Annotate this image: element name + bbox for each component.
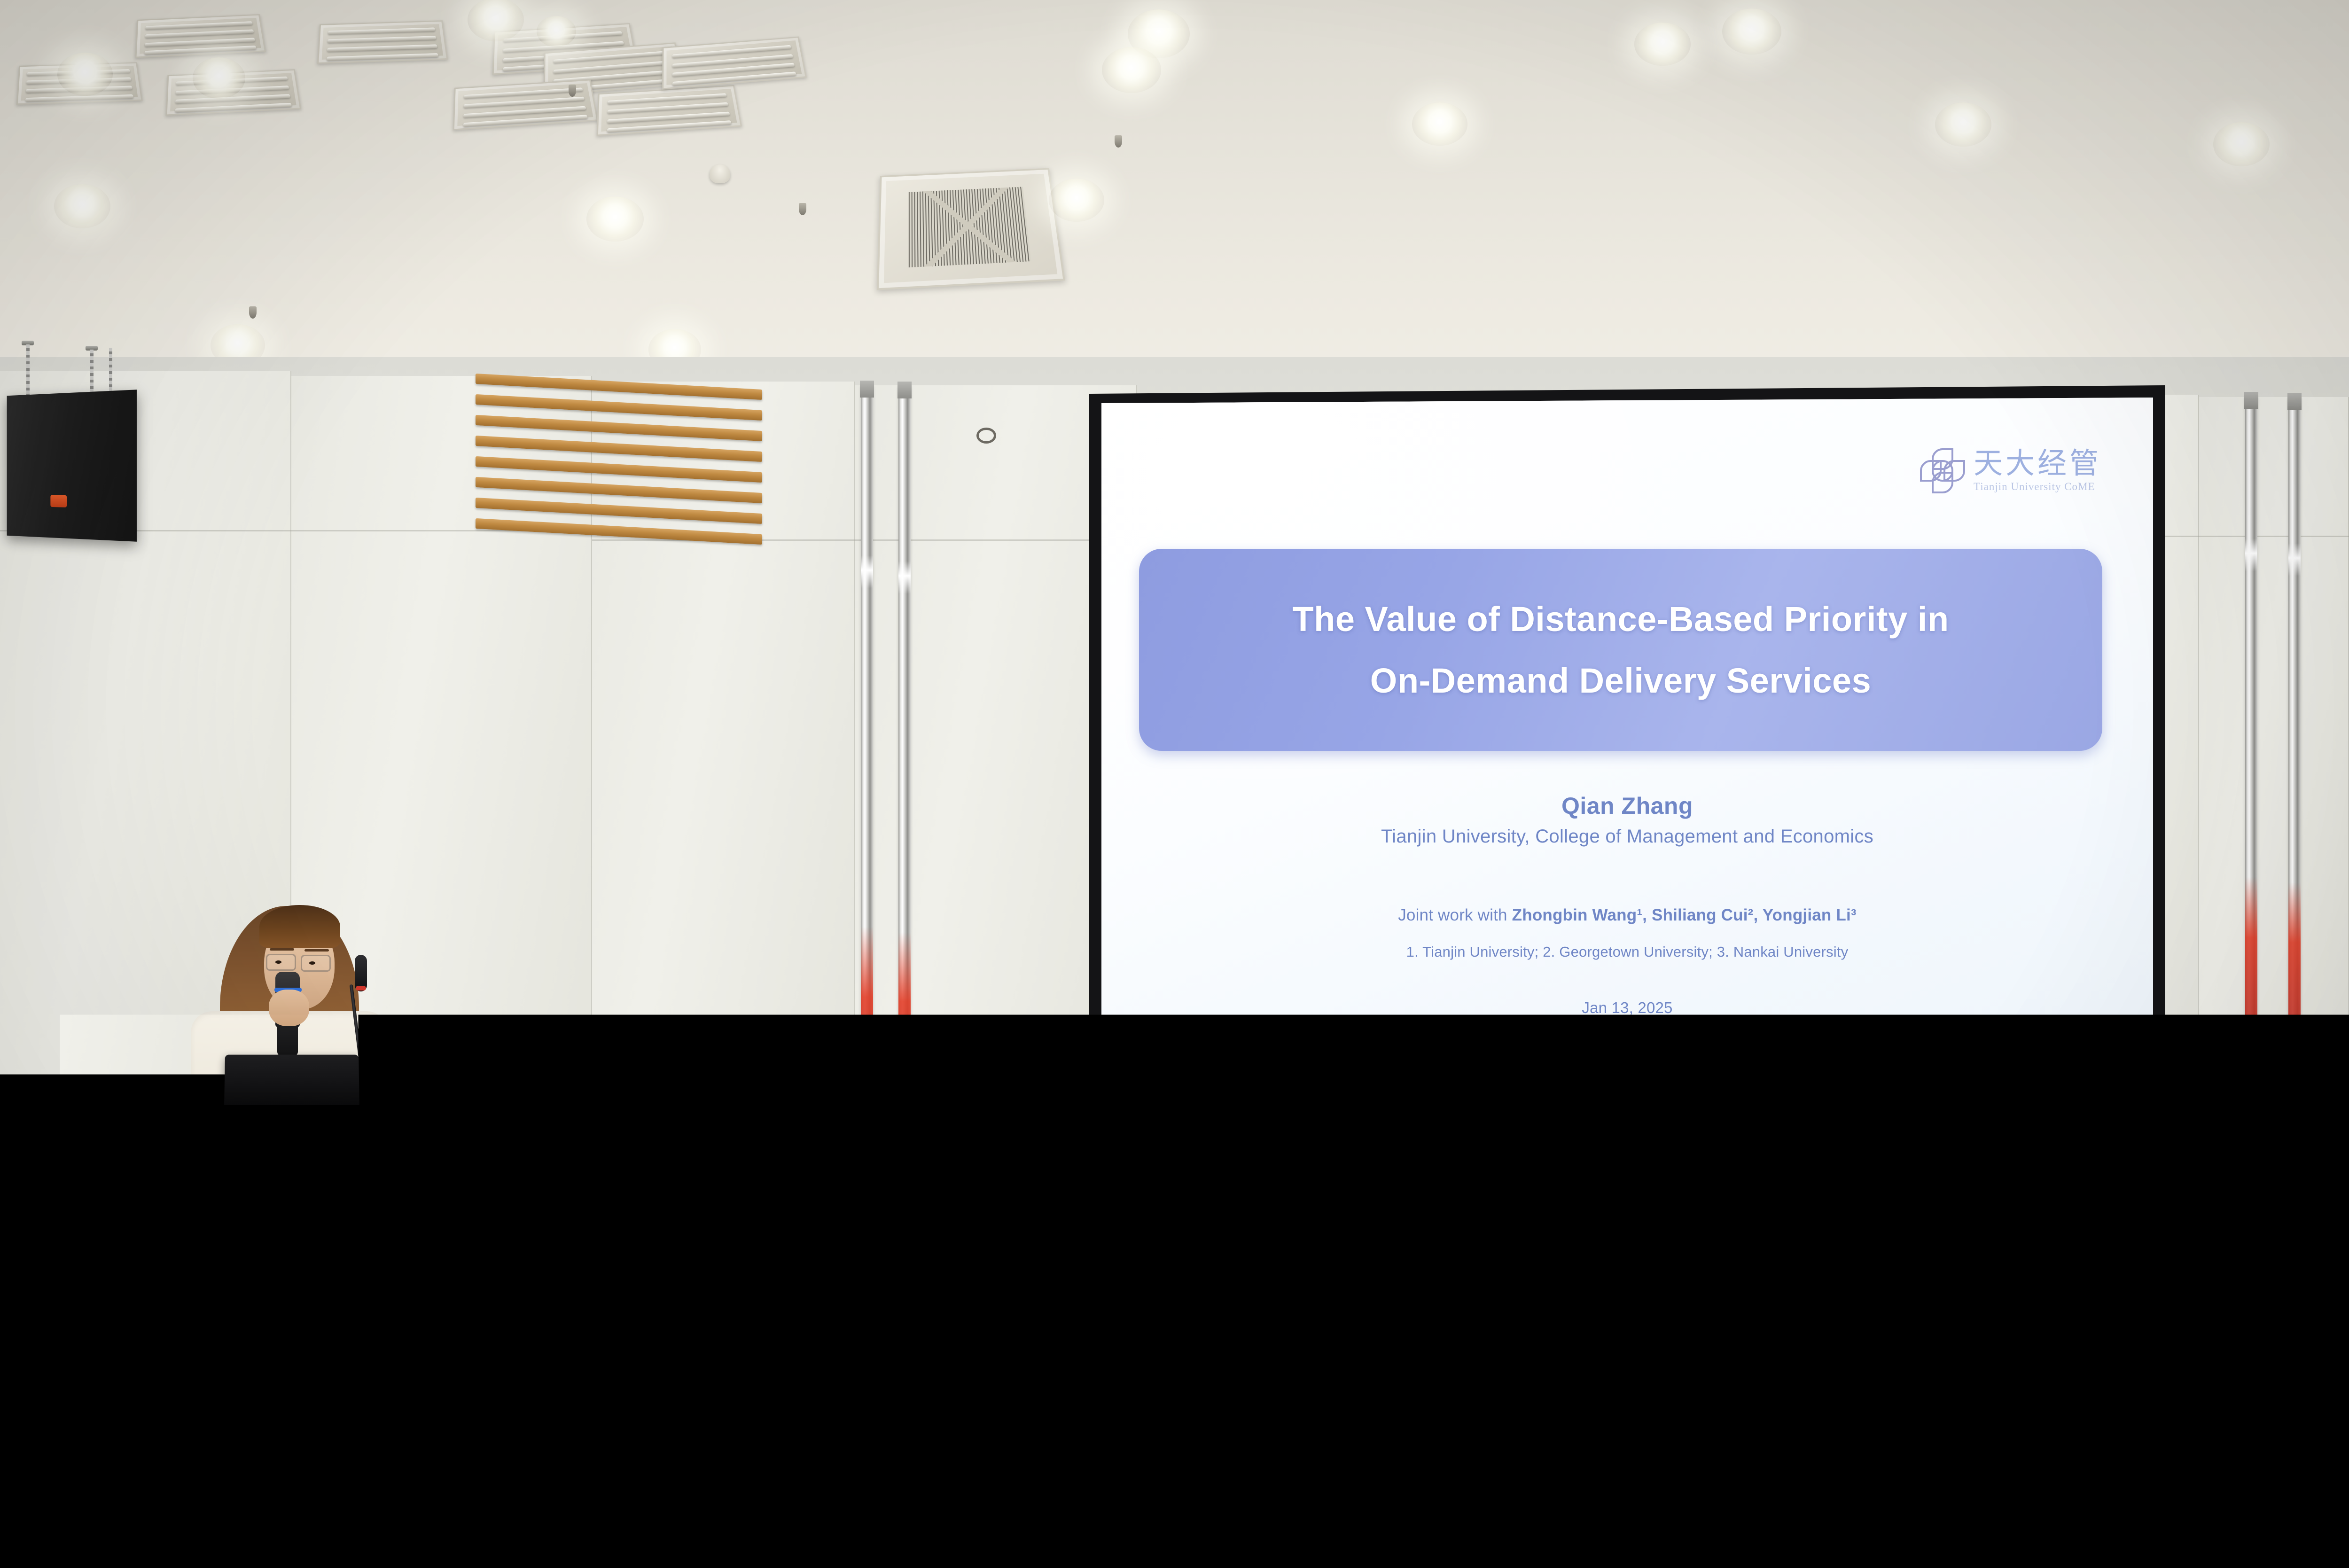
- footer-logo: 天大经管 Tianjin University CoME: [1121, 1087, 1198, 1111]
- footer-logo-english: Tianjin University CoME: [1142, 1106, 1198, 1111]
- ceiling-downlight: [1049, 179, 1104, 222]
- floor-light-reflection: [1494, 1416, 1507, 1428]
- tianjin-university-emblem-icon: [1920, 448, 1965, 493]
- slide-joint-work-block: Joint work with Zhongbin Wang¹, Shiliang…: [1101, 906, 2153, 960]
- presenter-eye: [309, 961, 315, 965]
- amba-label: AMBA: [2045, 1092, 2081, 1105]
- ac-cassette-unit: [877, 168, 1065, 290]
- ceiling-downlight: [1634, 23, 1691, 66]
- cable-ring-icon: [976, 428, 996, 444]
- chrome-strip-cap: [860, 381, 874, 398]
- camea-sublabel: 中国高质量MBA教育认证: [2093, 1103, 2136, 1108]
- chrome-wall-strip: [2288, 398, 2301, 1196]
- presenter-eyebrow: [304, 949, 329, 952]
- ceiling-downlight: [1722, 8, 1781, 55]
- stair-railing-bar: [0, 1213, 45, 1216]
- wood-slat-panel: [476, 374, 762, 552]
- sprinkler-head-icon: [799, 203, 806, 215]
- joint-work-prefix: Joint work with: [1398, 906, 1512, 924]
- slide-date-block: Jan 13, 2025: [1101, 999, 2153, 1017]
- presenter-eye: [275, 960, 281, 964]
- speaker-brand-badge: [50, 495, 67, 507]
- author-affiliation: Tianjin University, College of Managemen…: [1101, 826, 2153, 847]
- chrome-strip-cap: [2287, 393, 2302, 410]
- gooseneck-microphone-indicator: [356, 986, 366, 991]
- chrome-strip-cap: [897, 382, 912, 398]
- floor-light-reflection: [1306, 1415, 1320, 1428]
- ceiling-downlight: [537, 16, 576, 47]
- ceiling-speaker: [7, 390, 137, 542]
- presenter-hand: [269, 990, 309, 1026]
- chrome-wall-strip: [898, 387, 911, 1198]
- watermark: lamdaer.com: [2233, 1543, 2337, 1560]
- chrome-wall-strip: [2245, 398, 2257, 1196]
- presenter-hair-top: [259, 905, 340, 948]
- slide-date: Jan 13, 2025: [1101, 999, 2153, 1017]
- ceiling-downlight: [468, 0, 524, 41]
- lecture-hall-photo: 天大经管 Tianjin University CoME The Value o…: [0, 0, 2349, 1568]
- slide-logo-english: Tianjin University CoME: [1974, 481, 2101, 493]
- footer-motto: 崇实事而求是，践商道以化成: [1198, 1090, 1906, 1108]
- ceiling-downlight: [193, 57, 245, 99]
- camea-label: CAMEA: [2093, 1090, 2136, 1103]
- footer-logo-chinese: 天大经管: [1142, 1087, 1198, 1106]
- hvac-vent: [317, 20, 448, 64]
- podium-lip: [183, 1127, 409, 1147]
- presenter-glasses: [301, 955, 331, 972]
- smoke-detector-icon: [710, 164, 730, 183]
- aacsb-mark-icon: [1962, 1091, 1978, 1107]
- projection-screen: 天大经管 Tianjin University CoME The Value o…: [1089, 385, 2165, 1128]
- accreditation-logos: AACSB ACCREDITED AMBA CAMEA 中国高质量MBA教育认证: [1962, 1090, 2153, 1108]
- floor-column-reflection: [2296, 1245, 2298, 1527]
- podium-university-emblem-icon: [241, 1244, 367, 1371]
- projected-slide: 天大经管 Tianjin University CoME The Value o…: [1101, 398, 2153, 1116]
- floor-column-reflection: [870, 1250, 873, 1541]
- floor-light-reflection: [1884, 1418, 1896, 1428]
- floor-column-reflection: [907, 1250, 909, 1541]
- joint-work-line: Joint work with Zhongbin Wang¹, Shiliang…: [1101, 906, 2153, 925]
- floor-light-reflection: [939, 1412, 955, 1425]
- hvac-vent: [135, 14, 266, 58]
- presenter-eyebrow: [270, 948, 294, 951]
- slide-footer-bar: 天大经管 Tianjin University CoME 崇实事而求是，践商道以…: [1101, 1082, 2153, 1116]
- slide-author-block: Qian Zhang Tianjin University, College o…: [1101, 792, 2153, 847]
- chrome-strip-cap: [2244, 392, 2258, 409]
- ceiling-downlight: [1412, 102, 1467, 146]
- ceiling-downlight: [2213, 122, 2270, 166]
- coauthor-affiliations: 1. Tianjin University; 2. Georgetown Uni…: [1101, 944, 2153, 960]
- amba-mark-icon: [2028, 1092, 2042, 1106]
- slide-title-line-2: On-Demand Delivery Services: [1370, 655, 1871, 706]
- chrome-wall-strip: [861, 386, 873, 1199]
- sprinkler-head-icon: [249, 306, 257, 319]
- floor-light-reflection: [1689, 1417, 1702, 1428]
- speaker-chain: [26, 344, 30, 396]
- accreditation-amba: AMBA: [2028, 1092, 2081, 1106]
- slide-logo-chinese: 天大经管: [1974, 449, 2101, 478]
- slide-title-line-1: The Value of Distance-Based Priority in: [1292, 594, 1949, 644]
- floor-column-reflection: [2254, 1245, 2256, 1527]
- sprinkler-head-icon: [1115, 135, 1122, 148]
- footer-emblem-icon: [1121, 1089, 1138, 1108]
- ceiling-downlight: [1102, 47, 1161, 93]
- ceiling-downlight: [57, 53, 113, 96]
- accreditation-camea: CAMEA 中国高质量MBA教育认证: [2093, 1090, 2136, 1108]
- ceiling-downlight: [1935, 102, 1991, 147]
- sprinkler-head-icon: [569, 85, 576, 97]
- ceiling-downlight: [586, 196, 644, 242]
- ceiling-downlight: [54, 184, 110, 228]
- slide-logo: 天大经管 Tianjin University CoME: [1920, 448, 2101, 493]
- joint-work-coauthors: Zhongbin Wang¹, Shiliang Cui², Yongjian …: [1512, 906, 1857, 924]
- stair-railing-bar: [0, 1269, 42, 1272]
- floor-light-reflection: [1122, 1414, 1136, 1427]
- speaker-chain: [90, 350, 94, 396]
- aacsb-sublabel: ACCREDITED: [1982, 1103, 2016, 1106]
- podium-top: [193, 1090, 399, 1131]
- wall-panel: [2199, 397, 2349, 1198]
- accreditation-aacsb: AACSB ACCREDITED: [1962, 1091, 2016, 1107]
- slide-title-banner: The Value of Distance-Based Priority in …: [1139, 549, 2102, 751]
- aacsb-label: AACSB: [1982, 1092, 2016, 1102]
- stair-railing-bar: [0, 1162, 47, 1164]
- author-name: Qian Zhang: [1101, 792, 2153, 819]
